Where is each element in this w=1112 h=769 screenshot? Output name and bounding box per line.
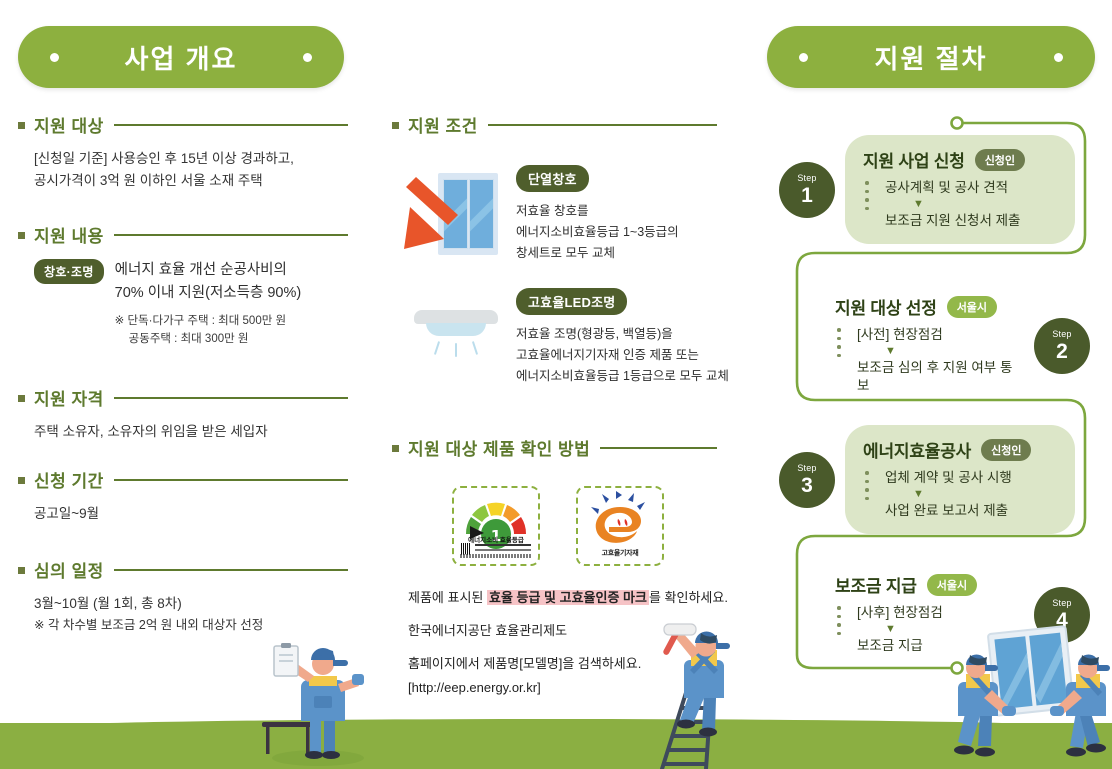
condition-description: 저효율 창호를 에너지소비효율등급 1~3등급의 창세트로 모두 교체 xyxy=(516,201,679,264)
process-step-3[interactable]: Step 3 에너지효율공사 신청인 업체 계약 및 공사 시행 ▼ 사업 완료… xyxy=(779,425,1075,534)
heat-loss-arrow-icon xyxy=(400,165,510,261)
step-3-card: 에너지효율공사 신청인 업체 계약 및 공사 시행 ▼ 사업 완료 보고서 제출 xyxy=(845,425,1075,534)
section-product-verification: 지원 대상 제품 확인 방법 xyxy=(392,435,717,460)
step-actor-badge: 신청인 xyxy=(981,439,1031,461)
square-bullet-icon xyxy=(18,232,25,239)
section-rule xyxy=(488,124,717,126)
pill-dot-right-icon xyxy=(1054,53,1063,62)
section-rule xyxy=(114,397,348,399)
category-tag: 창호·조명 xyxy=(34,259,104,284)
note-pre: 제품에 표시된 xyxy=(408,590,487,605)
step-title: 지원 대상 선정 xyxy=(835,294,937,319)
step-header: 지원 사업 신청 신청인 xyxy=(863,147,1057,172)
light-ray-icon xyxy=(455,343,457,357)
section-header: 심의 일정 xyxy=(18,557,348,582)
body-line: 공고일~9월 xyxy=(34,503,348,525)
worker-with-clipboard-illustration xyxy=(248,640,378,769)
square-bullet-icon xyxy=(392,445,399,452)
section-rule xyxy=(114,124,348,126)
step-word: Step xyxy=(797,464,816,473)
body-line: 3월~10월 (월 1회, 총 8차) xyxy=(34,593,348,615)
light-ray-icon xyxy=(472,341,478,355)
step-actor-badge: 서울시 xyxy=(947,296,997,318)
step-line-2: 보조금 지원 신청서 제출 xyxy=(885,212,1057,230)
section-rule xyxy=(114,479,348,481)
section-body: 공고일~9월 xyxy=(18,503,348,525)
step-title: 에너지효율공사 xyxy=(863,437,971,462)
support-content-text: 에너지 효율 개선 순공사비의 70% 이내 지원(저소득층 90%) ※ 단독… xyxy=(115,259,302,349)
body-line: [신청일 기준] 사용승인 후 15년 이상 경과하고, xyxy=(34,148,348,170)
overview-title: 사업 개요 xyxy=(125,39,238,76)
section-title: 지원 대상 제품 확인 방법 xyxy=(408,435,590,460)
note-line: ※ 단독·다가구 주택 : 최대 500만 원 xyxy=(115,315,286,327)
section-rule xyxy=(600,447,717,449)
step-1-card: 지원 사업 신청 신청인 공사계획 및 공사 견적 ▼ 보조금 지원 신청서 제… xyxy=(845,135,1075,244)
pill-dot-left-icon xyxy=(50,53,59,62)
down-caret-icon: ▼ xyxy=(913,199,1057,210)
overview-header-pill: 사업 개요 xyxy=(18,26,344,88)
desc-line: 저효율 조명(형광등, 백열등)을 xyxy=(516,324,729,345)
body-line: 주택 소유자, 소유자의 위임을 받은 세입자 xyxy=(34,421,348,443)
step-word: Step xyxy=(1052,330,1071,339)
step-number: 2 xyxy=(1056,341,1068,362)
step-2-card: 지원 대상 선정 서울시 [사전] 현장점검 ▼ 보조금 심의 후 지원 여부 … xyxy=(817,282,1032,410)
step-number: 3 xyxy=(801,475,813,496)
section-header: 신청 기간 xyxy=(18,467,348,492)
down-caret-icon: ▼ xyxy=(885,346,1014,357)
label-bar xyxy=(475,549,531,551)
pill-dot-left-icon xyxy=(799,53,808,62)
square-bullet-icon xyxy=(18,477,25,484)
window-icon xyxy=(400,165,510,261)
note-line-1: 제품에 표시된 효율 등급 및 고효율인증 마크를 확인하세요. xyxy=(408,588,758,608)
desc-line: 창세트로 모두 교체 xyxy=(516,243,679,264)
light-ray-icon xyxy=(434,341,440,355)
section-support-target: 지원 대상 [신청일 기준] 사용승인 후 15년 이상 경과하고, 공시가격이… xyxy=(18,112,348,192)
energy-efficiency-label-icon: 1 에너지소비 효율등급 xyxy=(452,486,540,566)
section-review-schedule: 심의 일정 3월~10월 (월 1회, 총 8차) ※ 각 차수별 보조금 2억… xyxy=(18,557,348,635)
body-line: 에너지 효율 개선 순공사비의 xyxy=(115,259,302,282)
step-detail-lines: [사전] 현장점검 ▼ 보조금 심의 후 지원 여부 통보 xyxy=(835,326,1014,396)
high-efficiency-mark-icon: 고효율기자재 xyxy=(576,486,664,566)
certification-marks: 1 에너지소비 효율등급 고효율기자재 xyxy=(452,486,664,566)
body-line: ※ 각 차수별 보조금 2억 원 내외 대상자 선정 xyxy=(34,615,348,635)
dot-list-icon xyxy=(837,328,841,362)
label-bar xyxy=(475,544,531,546)
step-line-2: 보조금 심의 후 지원 여부 통보 xyxy=(857,359,1014,395)
process-title: 지원 절차 xyxy=(875,39,988,76)
condition-label: 단열창호 xyxy=(516,165,589,192)
mark-caption: 고효율기자재 xyxy=(578,548,662,558)
section-body: 주택 소유자, 소유자의 위임을 받은 세입자 xyxy=(18,421,348,443)
two-workers-carrying-window-illustration xyxy=(940,612,1112,769)
section-support-content: 지원 내용 창호·조명 에너지 효율 개선 순공사비의 70% 이내 지원(저소… xyxy=(18,222,348,349)
step-2-number-badge: Step 2 xyxy=(1034,318,1090,374)
connector-start-node-icon xyxy=(952,118,963,129)
support-content-row: 창호·조명 에너지 효율 개선 순공사비의 70% 이내 지원(저소득층 90%… xyxy=(18,259,348,349)
efficiency-e-swirl-icon xyxy=(578,491,662,553)
section-rule xyxy=(114,569,348,571)
square-bullet-icon xyxy=(392,122,399,129)
condition-info: 고효율LED조명 저효율 조명(형광등, 백열등)을 고효율에너지기자재 인증 … xyxy=(516,288,729,387)
section-header: 지원 자격 xyxy=(18,385,348,410)
section-title: 지원 자격 xyxy=(34,385,104,410)
step-header: 보조금 지급 서울시 xyxy=(835,572,1014,597)
desc-line: 저효율 창호를 xyxy=(516,201,679,222)
square-bullet-icon xyxy=(18,395,25,402)
pill-dot-right-icon xyxy=(303,53,312,62)
step-detail-lines: 공사계획 및 공사 견적 ▼ 보조금 지원 신청서 제출 xyxy=(863,179,1057,230)
lamp-diffuser xyxy=(426,323,486,336)
body-line: 공시가격이 3억 원 이하인 서울 소재 주택 xyxy=(34,170,348,192)
condition-insulated-window: 단열창호 저효율 창호를 에너지소비효율등급 1~3등급의 창세트로 모두 교체 xyxy=(400,165,740,264)
step-header: 에너지효율공사 신청인 xyxy=(863,437,1057,462)
step-line-1: 공사계획 및 공사 견적 xyxy=(885,179,1057,197)
section-header: 지원 대상 xyxy=(18,112,348,137)
desc-line: 에너지소비효율등급 1~3등급의 xyxy=(516,222,679,243)
step-header: 지원 대상 선정 서울시 xyxy=(835,294,1014,319)
section-title: 지원 대상 xyxy=(34,112,104,137)
section-title: 지원 조건 xyxy=(408,112,478,137)
section-header: 지원 조건 xyxy=(392,112,717,137)
section-rule xyxy=(114,234,348,236)
section-body: 3월~10월 (월 1회, 총 8차) ※ 각 차수별 보조금 2억 원 내외 … xyxy=(18,593,348,635)
process-header-pill: 지원 절차 xyxy=(767,26,1095,88)
body-line: 70% 이내 지원(저소득층 90%) xyxy=(115,282,302,305)
condition-led-lighting: 고효율LED조명 저효율 조명(형광등, 백열등)을 고효율에너지기자재 인증 … xyxy=(400,288,745,387)
step-3-number-badge: Step 3 xyxy=(779,452,835,508)
dot-list-icon xyxy=(837,606,841,640)
section-header: 지원 내용 xyxy=(18,222,348,247)
desc-line: 고효율에너지기자재 인증 제품 또는 xyxy=(516,345,729,366)
step-title: 보조금 지급 xyxy=(835,572,917,597)
step-actor-badge: 신청인 xyxy=(975,149,1025,171)
step-number: 1 xyxy=(801,185,813,206)
process-step-2[interactable]: 지원 대상 선정 서울시 [사전] 현장점검 ▼ 보조금 심의 후 지원 여부 … xyxy=(817,282,1090,410)
step-title: 지원 사업 신청 xyxy=(863,147,965,172)
note-line: 공동주택 : 최대 300만 원 xyxy=(115,331,302,349)
process-flow: Step 1 지원 사업 신청 신청인 공사계획 및 공사 견적 ▼ 보조금 지… xyxy=(767,110,1097,680)
section-body: [신청일 기준] 사용승인 후 15년 이상 경과하고, 공시가격이 3억 원 … xyxy=(18,148,348,192)
step-line-1: [사전] 현장점검 xyxy=(857,326,1014,344)
section-header: 지원 대상 제품 확인 방법 xyxy=(392,435,717,460)
worker-on-ladder-illustration xyxy=(650,622,770,769)
condition-label: 고효율LED조명 xyxy=(516,288,627,315)
square-bullet-icon xyxy=(18,122,25,129)
ceiling-lamp-icon xyxy=(400,288,510,384)
desc-line: 에너지소비효율등급 1등급으로 모두 교체 xyxy=(516,366,729,387)
dot-list-icon xyxy=(865,181,869,215)
step-line-1: 업체 계약 및 공사 시행 xyxy=(885,469,1057,487)
process-step-1[interactable]: Step 1 지원 사업 신청 신청인 공사계획 및 공사 견적 ▼ 보조금 지… xyxy=(779,135,1075,244)
step-actor-badge: 서울시 xyxy=(927,574,977,596)
label-microtext xyxy=(460,554,532,558)
dot-list-icon xyxy=(865,471,869,505)
section-title: 지원 내용 xyxy=(34,222,104,247)
section-title: 심의 일정 xyxy=(34,557,104,582)
step-line-2: 사업 완료 보고서 제출 xyxy=(885,502,1057,520)
section-eligibility: 지원 자격 주택 소유자, 소유자의 위임을 받은 세입자 xyxy=(18,385,348,443)
step-1-number-badge: Step 1 xyxy=(779,162,835,218)
note-post: 를 확인하세요. xyxy=(649,590,728,605)
square-bullet-icon xyxy=(18,567,25,574)
section-support-conditions: 지원 조건 xyxy=(392,112,717,137)
lamp-housing xyxy=(414,310,498,324)
section-application-period: 신청 기간 공고일~9월 xyxy=(18,467,348,525)
condition-info: 단열창호 저효율 창호를 에너지소비효율등급 1~3등급의 창세트로 모두 교체 xyxy=(516,165,679,264)
step-word: Step xyxy=(797,174,816,183)
section-title: 신청 기간 xyxy=(34,467,104,492)
down-caret-icon: ▼ xyxy=(913,489,1057,500)
step-word: Step xyxy=(1052,599,1071,608)
condition-description: 저효율 조명(형광등, 백열등)을 고효율에너지기자재 인증 제품 또는 에너지… xyxy=(516,324,729,387)
note-highlight: 효율 등급 및 고효율인증 마크 xyxy=(487,590,649,605)
support-notes: ※ 단독·다가구 주택 : 최대 500만 원 공동주택 : 최대 300만 원 xyxy=(115,313,302,349)
step-detail-lines: 업체 계약 및 공사 시행 ▼ 사업 완료 보고서 제출 xyxy=(863,469,1057,520)
